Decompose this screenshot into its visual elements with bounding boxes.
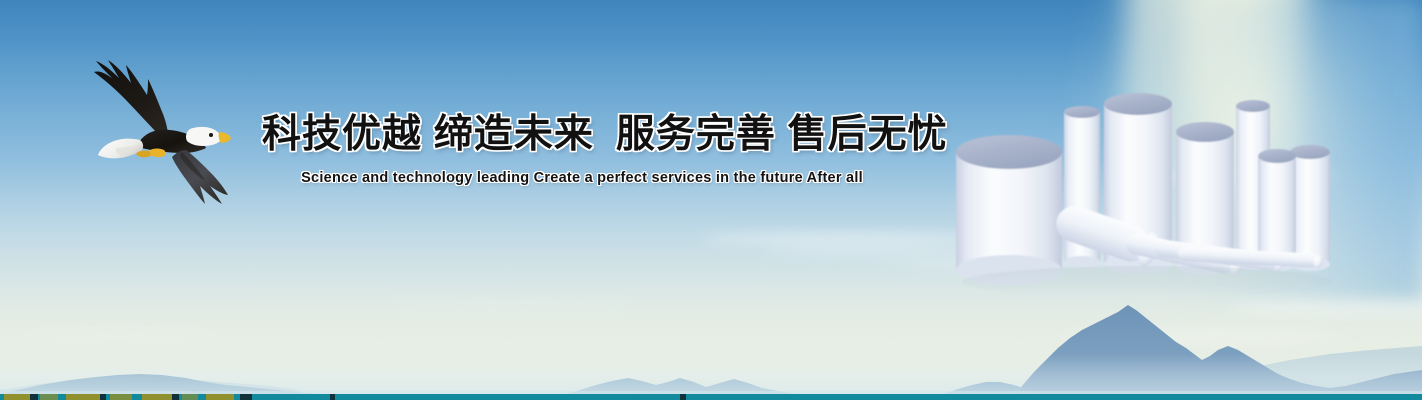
product-image-filter-cartridges [948,86,1360,312]
banner-subline: Science and technology leading Create a … [262,170,902,186]
product-shadow [962,266,1334,298]
hero-banner: 科技优越 缔造未来服务完善 售后无忧 Science and technolog… [0,0,1422,400]
headline-part-2: 服务完善 售后无忧 [616,113,948,156]
banner-headline: 科技优越 缔造未来服务完善 售后无忧 [262,112,902,157]
eagle-talons [148,149,166,158]
eagle-wing-upper [94,60,168,138]
eagle-head [186,127,221,146]
cirrus-cloud [700,232,990,245]
page-edge-strip [0,394,1422,400]
banner-copy: 科技优越 缔造未来服务完善 售后无忧 Science and technolog… [262,112,902,186]
eagle-eye [209,133,213,137]
headline-part-1: 科技优越 缔造未来 [262,113,594,156]
eagle-icon [78,52,233,217]
filter-cartridge-standing [956,135,1062,285]
eagle-beak [219,132,231,143]
